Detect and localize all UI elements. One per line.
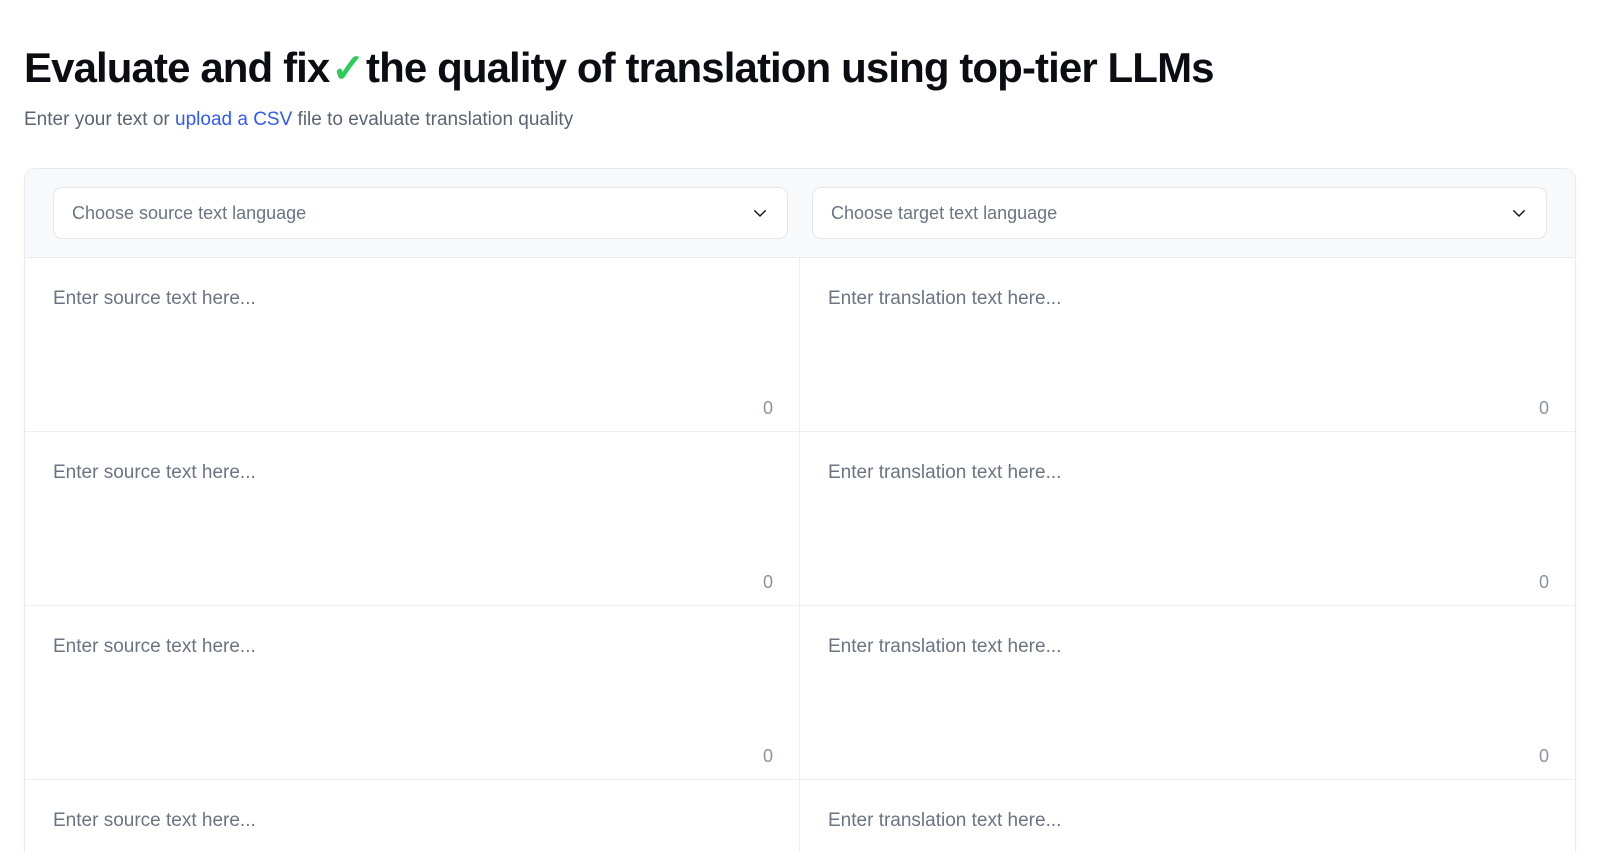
source-text-placeholder: Enter source text here... xyxy=(53,634,771,660)
target-text-placeholder: Enter translation text here... xyxy=(828,808,1547,834)
page-title-before: Evaluate and fix xyxy=(24,44,329,91)
target-char-count: 0 xyxy=(1539,398,1549,419)
target-language-value: Choose target text language xyxy=(831,203,1510,224)
page-title-after: the quality of translation using top-tie… xyxy=(366,44,1214,91)
target-text-placeholder: Enter translation text here... xyxy=(828,460,1547,486)
page-subtitle: Enter your text or upload a CSV file to … xyxy=(24,108,1576,133)
source-text-input[interactable]: Enter source text here...0 xyxy=(25,432,800,605)
source-language-select[interactable]: Choose source text language xyxy=(53,187,788,239)
upload-csv-link[interactable]: upload a CSV xyxy=(175,109,292,130)
target-char-count: 0 xyxy=(1539,746,1549,767)
source-text-input[interactable]: Enter source text here...0 xyxy=(25,606,800,779)
source-char-count: 0 xyxy=(763,572,773,593)
chevron-down-icon xyxy=(1510,204,1528,222)
source-text-placeholder: Enter source text here... xyxy=(53,808,771,834)
target-text-input[interactable]: Enter translation text here...0 xyxy=(800,780,1575,852)
subtitle-after: file to evaluate translation quality xyxy=(298,109,574,130)
source-text-input[interactable]: Enter source text here...0 xyxy=(25,258,800,431)
source-text-placeholder: Enter source text here... xyxy=(53,286,771,312)
target-char-count: 0 xyxy=(1539,572,1549,593)
target-text-input[interactable]: Enter translation text here...0 xyxy=(800,432,1575,605)
page-title: Evaluate and fix✓the quality of translat… xyxy=(24,44,1576,92)
target-text-placeholder: Enter translation text here... xyxy=(828,286,1547,312)
translation-card: Choose source text language Choose targe… xyxy=(24,168,1576,852)
target-text-input[interactable]: Enter translation text here...0 xyxy=(800,258,1575,431)
translation-row: Enter source text here...0Enter translat… xyxy=(25,780,1575,852)
source-text-placeholder: Enter source text here... xyxy=(53,460,771,486)
check-icon: ✓ xyxy=(329,47,366,91)
target-text-placeholder: Enter translation text here... xyxy=(828,634,1547,660)
source-char-count: 0 xyxy=(763,746,773,767)
target-text-input[interactable]: Enter translation text here...0 xyxy=(800,606,1575,779)
source-char-count: 0 xyxy=(763,398,773,419)
target-language-select[interactable]: Choose target text language xyxy=(812,187,1547,239)
translation-rows: Enter source text here...0Enter translat… xyxy=(25,258,1575,852)
chevron-down-icon xyxy=(751,204,769,222)
app-page: Evaluate and fix✓the quality of translat… xyxy=(0,0,1600,852)
source-text-input[interactable]: Enter source text here...0 xyxy=(25,780,800,852)
translation-row: Enter source text here...0Enter translat… xyxy=(25,606,1575,780)
source-language-value: Choose source text language xyxy=(72,203,751,224)
language-selector-bar: Choose source text language Choose targe… xyxy=(25,169,1575,258)
subtitle-before: Enter your text or xyxy=(24,109,170,130)
page-header: Evaluate and fix✓the quality of translat… xyxy=(24,0,1576,132)
translation-row: Enter source text here...0Enter translat… xyxy=(25,258,1575,432)
translation-row: Enter source text here...0Enter translat… xyxy=(25,432,1575,606)
